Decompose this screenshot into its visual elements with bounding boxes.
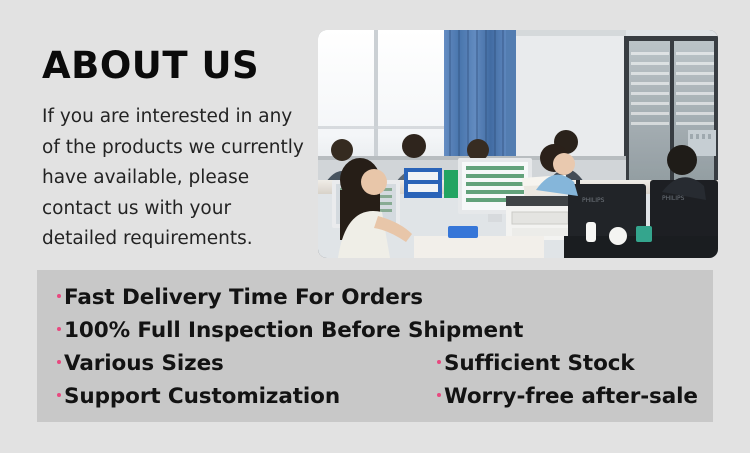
bullet-dot-icon (57, 294, 61, 298)
list-item: Support Customization (57, 380, 457, 413)
bullet-dot-icon (437, 393, 441, 397)
bullet-dot-icon (57, 327, 61, 331)
feature-label: Fast Delivery Time For Orders (64, 281, 423, 314)
page-title: ABOUT US (42, 44, 310, 88)
list-item: Various Sizes (57, 347, 457, 380)
about-paragraph: If you are interested in any of the prod… (42, 102, 308, 255)
list-item: Worry-free after-sale (437, 380, 717, 413)
office-photo-image: PHILIPS PHILIPS (318, 30, 718, 258)
features-right-column: Sufficient Stock Worry-free after-sale (437, 347, 717, 413)
bullet-dot-icon (57, 360, 61, 364)
features-left-column: Fast Delivery Time For Orders 100% Full … (57, 281, 457, 413)
bullet-dot-icon (57, 393, 61, 397)
list-item: 100% Full Inspection Before Shipment (57, 314, 457, 347)
bullet-dot-icon (437, 360, 441, 364)
list-item: Sufficient Stock (437, 347, 717, 380)
features-panel: Fast Delivery Time For Orders 100% Full … (37, 270, 713, 422)
feature-label: Worry-free after-sale (444, 380, 698, 413)
feature-label: 100% Full Inspection Before Shipment (64, 314, 523, 347)
office-photo: PHILIPS PHILIPS (318, 30, 718, 258)
about-section: ABOUT US If you are interested in any of… (42, 44, 310, 255)
feature-label: Sufficient Stock (444, 347, 635, 380)
list-item: Fast Delivery Time For Orders (57, 281, 457, 314)
feature-label: Support Customization (64, 380, 340, 413)
feature-label: Various Sizes (64, 347, 224, 380)
